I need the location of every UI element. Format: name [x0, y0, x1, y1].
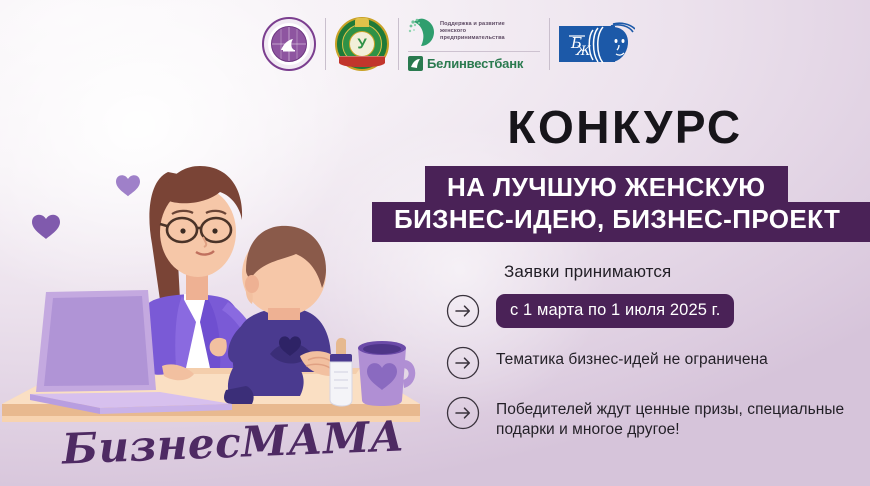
- list-item-text: Победителей ждут ценные призы, специальн…: [496, 395, 866, 440]
- bszh-woman-profile-logo-icon: Б Ж: [559, 22, 635, 66]
- logo-state-emblem-seal: У: [335, 8, 389, 80]
- logo-divider: [398, 18, 399, 70]
- logo-divider: [549, 18, 550, 70]
- promo-banner: У: [0, 0, 870, 486]
- headline-band-line-1: НА ЛУЧШУЮ ЖЕНСКУЮ: [425, 166, 788, 205]
- green-gold-circular-emblem-icon: У: [335, 17, 389, 71]
- band-line-2-text: БИЗНЕС-ИДЕЮ, БИЗНЕС-ПРОЕКТ: [394, 205, 850, 234]
- heart-icon: [32, 215, 60, 239]
- baby-hand: [210, 338, 227, 356]
- list-item: с 1 марта по 1 июля 2025 г.: [446, 294, 866, 328]
- arrow-right-circle-icon: [446, 346, 480, 380]
- headline-band-line-2: БИЗНЕС-ИДЕЮ, БИЗНЕС-ПРОЕКТ: [372, 202, 870, 242]
- belinvestbank-woman-profile-icon: [408, 17, 435, 47]
- purple-circular-seal-with-dove-icon: [262, 17, 316, 71]
- arrow-right-circle-icon: [446, 294, 480, 328]
- dove-icon: [278, 36, 300, 54]
- slogan-line-1: Поддержка и развитие: [440, 21, 505, 28]
- list-item-text: Тематика бизнес-идей не ограничена: [496, 345, 768, 370]
- svg-text:Ж: Ж: [575, 44, 591, 59]
- baby-bottle: [330, 338, 352, 406]
- arrow-right-circle-icon: [446, 396, 480, 430]
- partner-logo-strip: У: [262, 8, 630, 80]
- belinvestbank-slogan: Поддержка и развитие женского предприним…: [440, 21, 505, 43]
- heart-icon: [116, 175, 140, 196]
- logo-belinvestbank: Поддержка и развитие женского предприним…: [408, 8, 540, 80]
- bullets-lead-text: Заявки принимаются: [504, 262, 866, 282]
- slogan-line-2: женского: [440, 28, 505, 35]
- logo-bszh: Б Ж: [559, 8, 635, 80]
- bullet-list: Заявки принимаются с 1 марта по 1 июля 2…: [446, 262, 866, 455]
- logo-belarusian-association-seal: [262, 8, 316, 80]
- list-item: Победителей ждут ценные призы, специальн…: [446, 395, 866, 440]
- logo-divider: [325, 18, 326, 70]
- list-item: Тематика бизнес-идей не ограничена: [446, 345, 866, 380]
- headline-block: КОНКУРС: [0, 104, 870, 150]
- belinvestbank-mark-icon: [408, 56, 423, 71]
- deadline-badge: с 1 марта по 1 июля 2025 г.: [496, 294, 734, 328]
- belinvestbank-name: Белинвестбанк: [427, 56, 523, 71]
- page-title: КОНКУРС: [380, 104, 870, 150]
- slogan-line-3: предпринимательства: [440, 35, 505, 42]
- mother-with-baby-at-laptop-illustration: [0, 104, 430, 444]
- band-line-1-text: НА ЛУЧШУЮ ЖЕНСКУЮ: [447, 173, 766, 202]
- logo-rule: [408, 51, 540, 52]
